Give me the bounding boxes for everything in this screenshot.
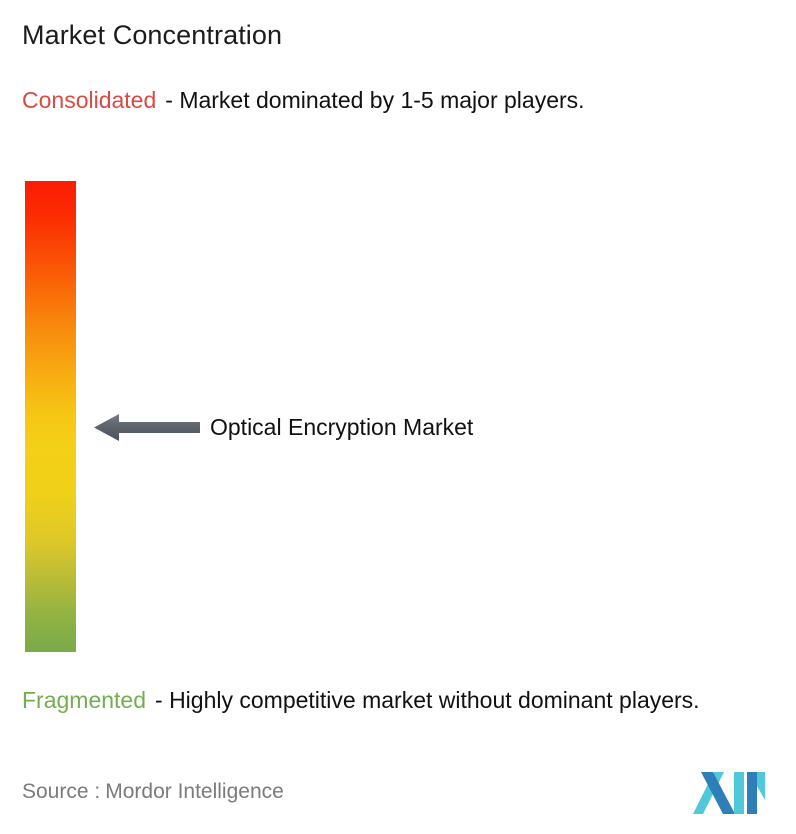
- page-title: Market Concentration: [22, 20, 282, 51]
- legend-term-consolidated: Consolidated: [22, 87, 156, 113]
- source-label: Source :: [22, 780, 100, 803]
- legend-description-fragmented: - Highly competitive market without domi…: [155, 687, 700, 713]
- chart-canvas: Market Concentration Consolidated- Marke…: [0, 0, 796, 834]
- source-name: Mordor Intelligence: [105, 780, 284, 803]
- source-attribution: Source :Mordor Intelligence: [22, 780, 284, 804]
- legend-fragmented: Fragmented- Highly competitive market wi…: [22, 684, 784, 717]
- market-position-marker: Optical Encryption Market: [94, 411, 473, 444]
- legend-description-consolidated: - Market dominated by 1-5 major players.: [165, 87, 584, 113]
- concentration-gradient-bar: [25, 181, 76, 652]
- left-arrow-icon: [94, 411, 200, 444]
- market-position-label: Optical Encryption Market: [210, 411, 473, 444]
- legend-consolidated: Consolidated- Market dominated by 1-5 ma…: [22, 84, 778, 117]
- mordor-intelligence-logo-icon: [693, 772, 765, 814]
- legend-term-fragmented: Fragmented: [22, 687, 146, 713]
